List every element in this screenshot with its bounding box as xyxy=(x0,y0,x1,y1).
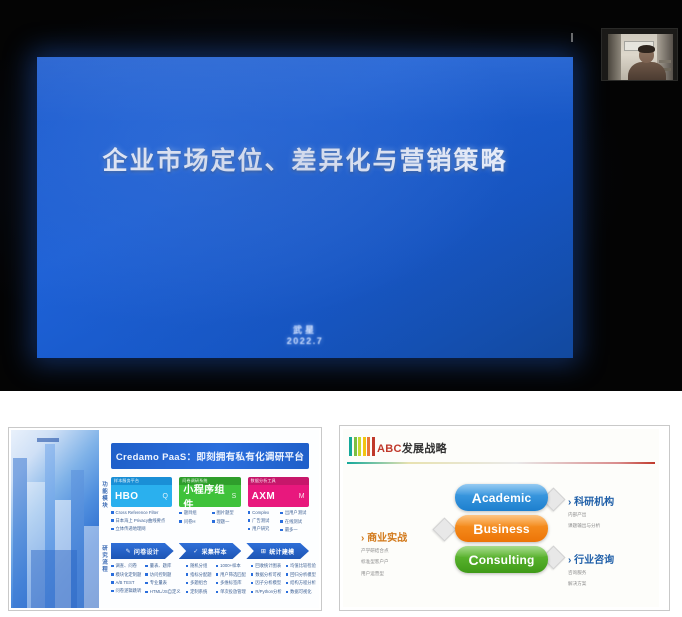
abc-title-cn: 发展战略 xyxy=(402,443,447,455)
credamo-detail: 结构方程分析 xyxy=(286,580,316,586)
abc-arrow-left-icon xyxy=(432,517,456,541)
abc-label-heading: 商业实战 xyxy=(361,529,407,544)
credamo-bullet: 用户研究 xyxy=(248,526,277,532)
pip-person-hair xyxy=(638,45,655,53)
credamo-card[interactable]: 样本服务平台 HBOQ xyxy=(111,477,172,507)
credamo-photo-caption xyxy=(37,438,59,442)
abc-label-line: 产学研结合点 xyxy=(361,547,407,555)
abc-label-line: 咨询服务 xyxy=(568,569,614,577)
credamo-detail: 多维标签库 xyxy=(216,580,246,586)
credamo-detail: HTML/JS自定义 xyxy=(145,589,180,595)
abc-title-en: ABC xyxy=(377,443,402,455)
credamo-bullet: Cross Reference Filter xyxy=(111,510,172,515)
abc-pill-initial: B xyxy=(473,521,483,537)
credamo-detail-grid: 调查、问卷 模块化定制题 A/B TEST 问卷逻辑跳转 量表、题库 访问控制题… xyxy=(111,563,309,602)
abc-label-line: 标准型客户户 xyxy=(361,558,407,566)
abc-accent-bars xyxy=(349,437,375,456)
pip-shelf-upper xyxy=(659,60,671,63)
slide-date: 2022.7 xyxy=(37,336,573,346)
webcam-pip[interactable] xyxy=(601,28,678,81)
credamo-bullet: 最多一 xyxy=(280,527,309,533)
credamo-bullet: 日本海上 Privacy曲线要点 xyxy=(111,518,172,524)
thumbnail-credamo-paas[interactable]: Credamo PaaS：即刻拥有私有化调研平台 功能模块 研究流程 样本服务平… xyxy=(8,427,322,611)
abc-label-heading: 行业咨询 xyxy=(568,551,614,566)
credamo-detail-group: 调查、问卷 模块化定制题 A/B TEST 问卷逻辑跳转 量表、题库 访问控制题… xyxy=(111,563,181,602)
credamo-card[interactable]: 问卷调研系统 小程序组件S xyxy=(179,477,240,507)
credamo-card-badge: Q xyxy=(162,493,168,500)
credamo-bullet-group: 题目组 问卷H 图片题型 理题一 xyxy=(179,510,240,538)
credamo-detail: 量表、题库 xyxy=(145,563,180,569)
credamo-card-title: AXM xyxy=(252,491,275,502)
abc-pill-business[interactable]: Business xyxy=(455,515,548,542)
credamo-bullet: Complex xyxy=(248,510,277,515)
credamo-side-label-2: 研究流程 xyxy=(101,546,109,574)
credamo-step[interactable]: ✎ 问卷设计 xyxy=(111,543,174,559)
grid-icon: ⊞ xyxy=(261,548,266,555)
abc-pill-rest: usiness xyxy=(484,522,530,536)
credamo-bullet: 出用户测试 xyxy=(280,510,309,516)
abc-pill-academic[interactable]: Academic xyxy=(455,484,548,511)
screen-root: 企业市场定位、差异化与营销策略 武星 2022.7 xyxy=(0,0,682,617)
credamo-card-caption: 样本服务平台 xyxy=(114,478,139,484)
abc-label-research-institute: 科研机构 内部产出 课题输出与分析 xyxy=(568,493,614,531)
abc-pill-initial: A xyxy=(472,490,482,506)
credamo-step[interactable]: ✓ 采集样本 xyxy=(179,543,242,559)
abc-label-line: 解决方案 xyxy=(568,580,614,588)
credamo-bullet: 广告测试 xyxy=(248,518,277,524)
credamo-card-badge: M xyxy=(299,493,305,500)
credamo-detail: 数据可视化 xyxy=(286,589,316,595)
credamo-side-label-1: 功能模块 xyxy=(101,482,109,510)
credamo-detail: 均值比较检验 xyxy=(286,563,316,569)
credamo-detail: 数据分析可视 xyxy=(251,572,282,578)
credamo-bullet: 在线测试 xyxy=(280,519,309,525)
credamo-step-label: 统计建模 xyxy=(269,547,294,556)
credamo-bullet-row: Cross Reference Filter 日本海上 Privacy曲线要点 … xyxy=(111,510,309,538)
credamo-bullet: 图片题型 xyxy=(212,510,241,516)
abc-title-rule xyxy=(347,462,655,464)
credamo-detail: 访问控制题 xyxy=(145,572,180,578)
credamo-slide-canvas: Credamo PaaS：即刻拥有私有化调研平台 功能模块 研究流程 样本服务平… xyxy=(11,430,319,608)
credamo-bullet: 题目组 xyxy=(179,510,208,516)
credamo-step-row: ✎ 问卷设计 ✓ 采集样本 ⊞ 统计建模 xyxy=(111,543,309,559)
credamo-bullet-group: Cross Reference Filter 日本海上 Privacy曲线要点 … xyxy=(111,510,172,538)
credamo-detail: 多题组合 xyxy=(186,580,212,586)
abc-pill-stack: Academic Business Consulting xyxy=(455,484,548,577)
credamo-detail: 调查、问卷 xyxy=(111,563,141,569)
abc-label-line: 课题输出与分析 xyxy=(568,522,614,530)
credamo-card[interactable]: 数据分析工具 AXMM xyxy=(248,477,309,507)
abc-label-industry-consulting: 行业咨询 咨询服务 解决方案 xyxy=(568,551,614,589)
credamo-step-label: 问卷设计 xyxy=(134,547,159,556)
credamo-detail: A/B TEST xyxy=(111,580,141,585)
video-player-area[interactable]: 企业市场定位、差异化与营销策略 武星 2022.7 xyxy=(0,0,682,391)
check-icon: ✓ xyxy=(193,548,198,555)
abc-pill-rest: cademic xyxy=(482,491,531,505)
slide-author: 武星 xyxy=(37,323,573,336)
credamo-detail: 因子分析模型 xyxy=(251,580,282,586)
credamo-detail: R/Python分析 xyxy=(251,589,282,595)
credamo-bullet: 立体传递地理网 xyxy=(111,526,172,532)
pip-room-background xyxy=(608,34,673,80)
credamo-detail: 指标分配题 xyxy=(186,572,212,578)
credamo-banner: Credamo PaaS：即刻拥有私有化调研平台 xyxy=(111,443,309,469)
credamo-detail-group: 随机分组 指标分配题 多题组合 定制系统 1000+样本 用户筛选匹配 多维标签… xyxy=(186,563,246,602)
credamo-detail: 模块化定制题 xyxy=(111,572,141,578)
credamo-bullet: 理题一 xyxy=(212,519,241,525)
credamo-detail: 随机分组 xyxy=(186,563,212,569)
pip-wall-left xyxy=(608,34,621,80)
abc-pill-initial: C xyxy=(468,552,478,568)
credamo-photo-skyline xyxy=(11,430,99,608)
abc-label-heading: 科研机构 xyxy=(568,493,614,508)
credamo-card-row: 样本服务平台 HBOQ 问卷调研系统 小程序组件S 数据分析工具 AXMM xyxy=(111,477,309,507)
credamo-detail: 问卷逻辑跳转 xyxy=(111,588,141,594)
abc-slide-title: ABC发展战略 xyxy=(377,440,447,456)
abc-slide-canvas: ABC发展战略 Academic Business Consulting 商业实… xyxy=(343,429,659,607)
credamo-card-badge: S xyxy=(232,493,237,500)
credamo-content: Credamo PaaS：即刻拥有私有化调研平台 功能模块 研究流程 样本服务平… xyxy=(99,430,319,608)
presentation-slide: 企业市场定位、差异化与营销策略 武星 2022.7 xyxy=(37,57,573,358)
screen-light-speck xyxy=(571,33,573,42)
pencil-icon: ✎ xyxy=(126,548,131,555)
credamo-detail: 1000+样本 xyxy=(216,563,246,569)
credamo-card-caption: 数据分析工具 xyxy=(251,478,276,484)
credamo-detail: 定制系统 xyxy=(186,589,212,595)
credamo-step[interactable]: ⊞ 统计建模 xyxy=(246,543,309,559)
pip-person-body xyxy=(628,62,666,81)
credamo-card-title: HBO xyxy=(115,491,138,502)
credamo-step-label: 采集样本 xyxy=(202,547,227,556)
credamo-detail: 专业量表 xyxy=(145,580,180,586)
thumbnail-abc-strategy[interactable]: ABC发展战略 Academic Business Consulting 商业实… xyxy=(339,425,670,611)
credamo-detail: 用户筛选匹配 xyxy=(216,572,246,578)
slide-title: 企业市场定位、差异化与营销策略 xyxy=(37,141,573,177)
abc-pill-consulting[interactable]: Consulting xyxy=(455,546,548,573)
credamo-detail-group: 回收统计图表 数据分析可视 因子分析模型 R/Python分析 均值比较检验 回… xyxy=(251,563,316,602)
abc-pill-rest: onsulting xyxy=(479,553,535,567)
credamo-detail: 单次投放管理 xyxy=(216,589,246,595)
credamo-bullet: 问卷H xyxy=(179,519,208,525)
abc-label-line: 内部产出 xyxy=(568,511,614,519)
credamo-detail: 回归分析模型 xyxy=(286,572,316,578)
abc-label-business-practice: 商业实战 产学研结合点 标准型客户户 用户运营型 xyxy=(361,529,407,578)
credamo-detail: 回收统计图表 xyxy=(251,563,282,569)
credamo-card-title: 小程序组件 xyxy=(183,481,231,507)
abc-label-line: 用户运营型 xyxy=(361,570,407,578)
credamo-bullet-group: Complex 广告测试 用户研究 出用户测试 在线测试 最多一 xyxy=(248,510,309,538)
